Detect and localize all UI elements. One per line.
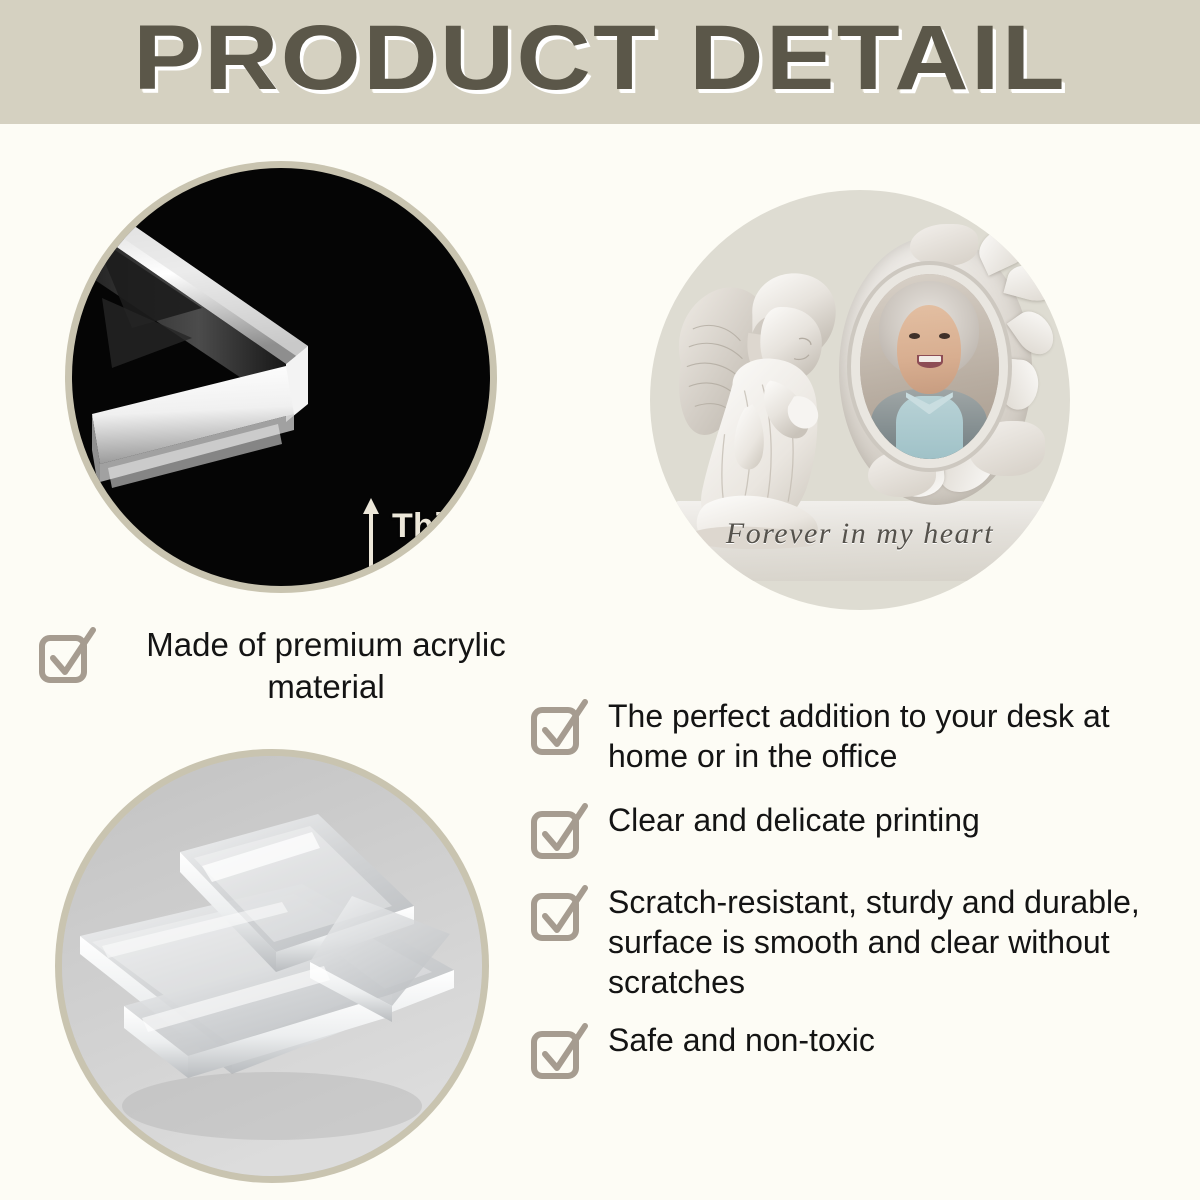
feature-safe-nontoxic: Safe and non-toxic	[528, 1020, 1188, 1084]
thickness-photo-circle: Thickness 0.55 in	[72, 168, 490, 586]
engraved-quote: Forever in my heart	[650, 517, 1070, 551]
acrylic-sheets-photo-circle	[62, 756, 482, 1176]
checkbox-checked-icon	[528, 802, 590, 864]
feature-clear-printing: Clear and delicate printing	[528, 800, 1188, 864]
feature-desk-addition: The perfect addition to your desk at hom…	[528, 696, 1188, 776]
double-arrow-vertical-icon	[362, 498, 380, 586]
page-title: PRODUCT DETAIL	[0, 6, 1200, 110]
portrait-face	[897, 305, 961, 394]
feature-label: Clear and delicate printing	[608, 800, 980, 840]
header-band: PRODUCT DETAIL	[0, 0, 1200, 124]
thickness-label: Thickness	[392, 506, 490, 546]
angel-statue-illustration	[667, 249, 885, 560]
feature-label: Safe and non-toxic	[608, 1020, 875, 1060]
feature-label: The perfect addition to your desk at hom…	[608, 696, 1188, 776]
acrylic-sheets-illustration	[62, 756, 482, 1176]
portrait-eye-left	[909, 333, 920, 339]
feature-label: Scratch-resistant, sturdy and durable, s…	[608, 882, 1198, 1002]
product-detail-page: PRODUCT DETAIL	[0, 0, 1200, 1200]
product-photo-circle: Forever in my heart	[650, 190, 1070, 610]
thickness-callout: Thickness 0.55 in	[362, 498, 490, 586]
feature-premium-acrylic: Made of premium acrylic material	[36, 624, 556, 708]
checkbox-checked-icon	[528, 698, 590, 760]
feature-scratch-resistant: Scratch-resistant, sturdy and durable, s…	[528, 882, 1198, 1002]
scroll-carving	[910, 224, 977, 266]
checkbox-checked-icon	[528, 884, 590, 946]
checkbox-checked-icon	[36, 626, 98, 688]
feature-label: Made of premium acrylic material	[116, 624, 536, 708]
checkbox-checked-icon	[528, 1022, 590, 1084]
thickness-value: 0.55 in	[392, 546, 490, 586]
portrait-teeth	[919, 356, 941, 362]
